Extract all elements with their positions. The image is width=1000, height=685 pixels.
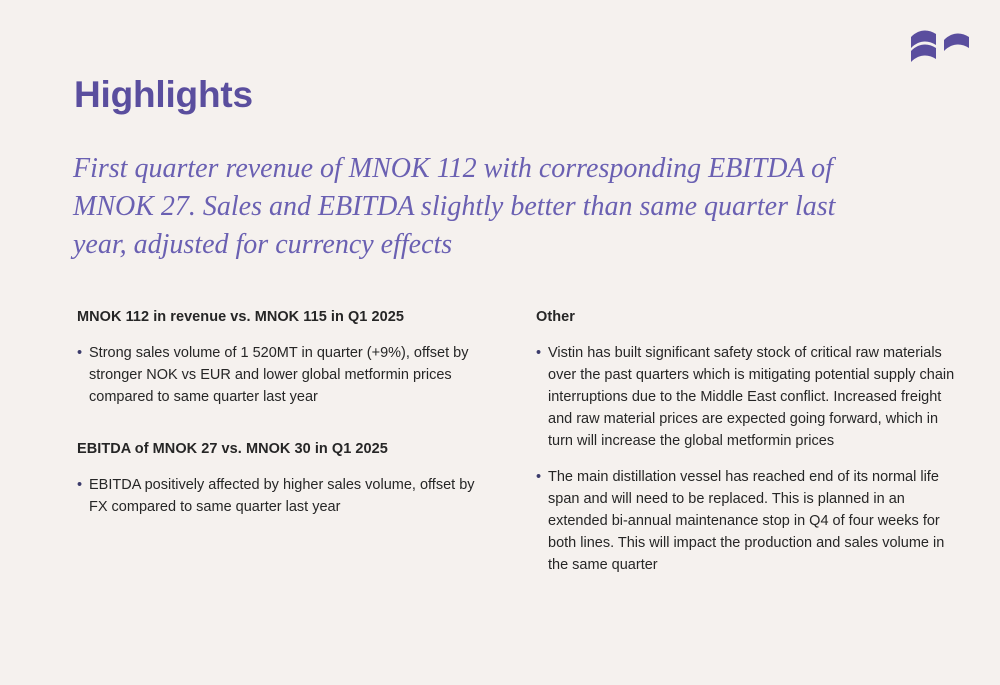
list-item: •Vistin has built significant safety sto… bbox=[536, 342, 956, 452]
vistin-pharma-wave-logo bbox=[908, 26, 980, 66]
block-other: Other •Vistin has built significant safe… bbox=[536, 308, 956, 576]
block-revenue: MNOK 112 in revenue vs. MNOK 115 in Q1 2… bbox=[77, 308, 477, 408]
list-item-text: The main distillation vessel has reached… bbox=[548, 469, 944, 573]
right-column: Other •Vistin has built significant safe… bbox=[536, 308, 956, 576]
bullet-list-other: •Vistin has built significant safety sto… bbox=[536, 342, 956, 576]
left-column: MNOK 112 in revenue vs. MNOK 115 in Q1 2… bbox=[77, 308, 477, 518]
slide-root: Highlights First quarter revenue of MNOK… bbox=[0, 0, 1000, 685]
bullet-dot-icon: • bbox=[536, 466, 541, 488]
list-item: •EBITDA positively affected by higher sa… bbox=[77, 474, 477, 518]
page-title: Highlights bbox=[74, 74, 253, 117]
page-subtitle: First quarter revenue of MNOK 112 with c… bbox=[73, 150, 863, 264]
list-item: •Strong sales volume of 1 520MT in quart… bbox=[77, 342, 477, 408]
bullet-dot-icon: • bbox=[77, 342, 82, 364]
list-item-text: Strong sales volume of 1 520MT in quarte… bbox=[89, 345, 468, 405]
list-item-text: Vistin has built significant safety stoc… bbox=[548, 345, 954, 449]
bullet-list-revenue: •Strong sales volume of 1 520MT in quart… bbox=[77, 342, 477, 408]
bullet-dot-icon: • bbox=[536, 342, 541, 364]
block-heading-revenue: MNOK 112 in revenue vs. MNOK 115 in Q1 2… bbox=[77, 308, 477, 327]
list-item-text: EBITDA positively affected by higher sal… bbox=[89, 477, 475, 515]
block-ebitda: EBITDA of MNOK 27 vs. MNOK 30 in Q1 2025… bbox=[77, 440, 477, 518]
wave-logo-icon bbox=[908, 26, 980, 66]
block-heading-ebitda: EBITDA of MNOK 27 vs. MNOK 30 in Q1 2025 bbox=[77, 440, 477, 459]
bullet-dot-icon: • bbox=[77, 474, 82, 496]
bullet-gap bbox=[536, 452, 956, 466]
list-item: •The main distillation vessel has reache… bbox=[536, 466, 956, 576]
bullet-list-ebitda: •EBITDA positively affected by higher sa… bbox=[77, 474, 477, 518]
block-heading-other: Other bbox=[536, 308, 956, 327]
